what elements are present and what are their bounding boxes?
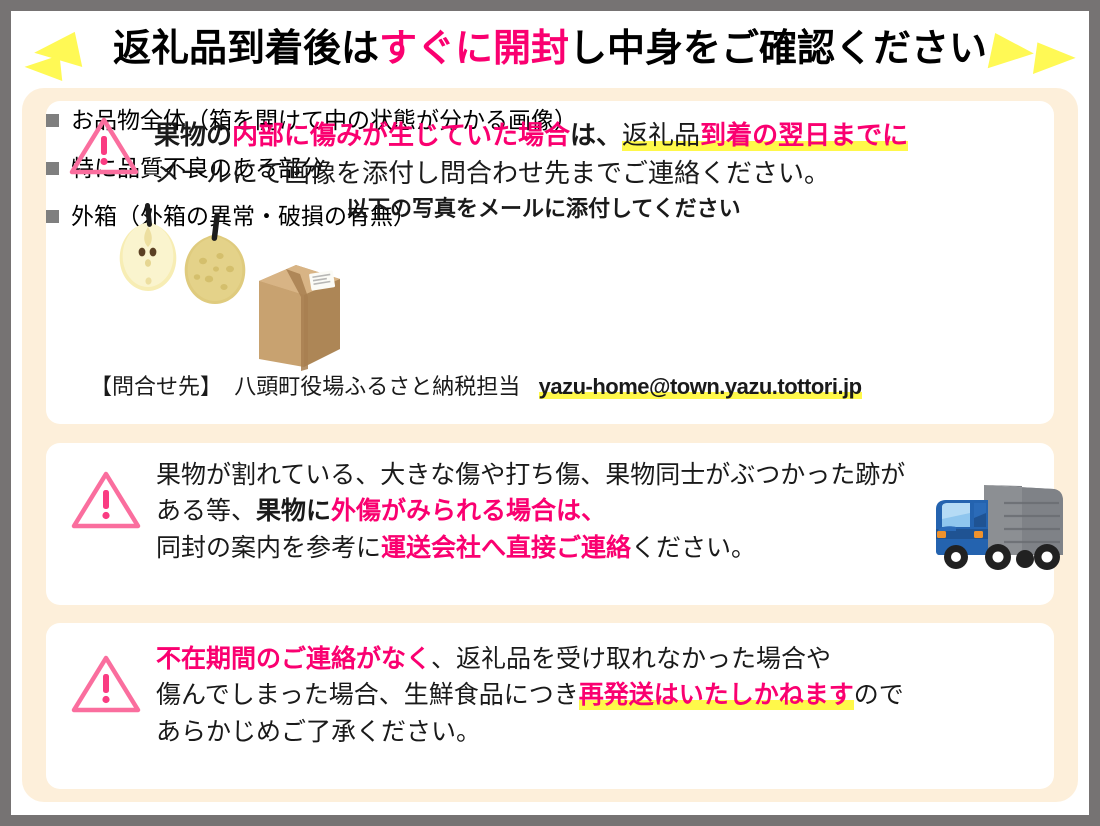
panel1-subheading: 以下の写真をメールに添付してください [346,193,741,225]
poster-header: 返礼品到着後はすぐに開封し中身をご確認ください [11,17,1089,89]
contact-label: 【問合せ先】 [90,374,222,399]
panel1-lead-text: 果物の内部に傷みが生じていた場合は、返礼品到着の翌日までに メールにて画像を添付… [154,117,1054,192]
poster-page: 返礼品到着後はすぐに開封し中身をご確認ください 果物の内部に傷みが生じていた場合… [11,11,1089,815]
warning-triangle-icon [70,469,142,531]
p2-l3-seg3: ください。 [631,534,756,562]
p2-l2-seg1: ある等、 [156,497,256,525]
notice-panel-inspect-on-arrival: 果物の内部に傷みが生じていた場合は、返礼品到着の翌日までに メールにて画像を添付… [46,101,1054,424]
warning-triangle-icon [70,653,142,715]
panel2-line2: ある等、果物に外傷がみられる場合は、 [156,493,946,529]
p3-l2-seg1: 傷んでしまった場合、生鮮食品につき [156,681,579,709]
p2-l2-seg3: 外傷がみられる場合は、 [331,497,606,525]
warning-triangle-icon [68,115,140,177]
p3-l2-seg2: 再発送はいたしかねます [579,681,854,710]
title-segment-highlight: すぐに開封 [379,28,569,70]
p2-l3-seg2: 運送会社へ直接ご連絡 [381,534,631,562]
p1-seg5: 到着の翌日までに [700,120,908,151]
p2-l2-seg2: 果物に [256,497,331,525]
pears-and-cardboard-box-illustration [104,201,344,371]
panel3-line1: 不在期間のご連絡がなく、返礼品を受け取れなかった場合や [156,641,1036,677]
p1-seg2: 内部に傷みが生じていた場合 [232,120,570,150]
p3-l2-seg3: ので [854,681,904,709]
cardboard-box-icon [259,265,340,371]
p3-l1-seg1: 不在期間のご連絡がなく [156,645,431,673]
square-bullet-icon [46,162,59,175]
panel1-lead-line2: メールにて画像を添付し問合わせ先までご連絡ください。 [154,155,1054,193]
p2-l3-seg1: 同封の案内を参考に [156,534,381,562]
p1-seg1: 果物の [154,120,232,150]
panel1-lead-line1: 果物の内部に傷みが生じていた場合は、返礼品到着の翌日までに [154,117,1054,155]
p1-seg3: は、 [570,120,622,150]
panel1-contact-line: 【問合せ先】 八頭町役場ふるさと納税担当 yazu-home@town.yazu… [90,371,862,403]
poster-root: 返礼品到着後はすぐに開封し中身をご確認ください 果物の内部に傷みが生じていた場合… [0,0,1100,826]
notice-panel-external-damage: 果物が割れている、大きな傷や打ち傷、果物同士がぶつかった跡が ある等、果物に外傷… [46,443,1054,605]
panel3-line3: あらかじめご了承ください。 [156,714,1036,750]
contact-office: 八頭町役場ふるさと納税担当 [234,374,520,399]
page-title: 返礼品到着後はすぐに開封し中身をご確認ください [11,17,1089,81]
cream-container: 果物の内部に傷みが生じていた場合は、返礼品到着の翌日までに メールにて画像を添付… [22,88,1078,802]
notice-panel-no-reshipment: 不在期間のご連絡がなく、返礼品を受け取れなかった場合や 傷んでしまった場合、生鮮… [46,623,1054,789]
panel3-line2: 傷んでしまった場合、生鮮食品につき再発送はいたしかねますので [156,677,1036,713]
whole-pear-icon [185,213,246,304]
square-bullet-icon [46,210,59,223]
p3-l1-seg2: 、返礼品を受け取れなかった場合や [431,645,831,673]
delivery-truck-illustration [926,471,1076,581]
panel3-body-text: 不在期間のご連絡がなく、返礼品を受け取れなかった場合や 傷んでしまった場合、生鮮… [156,641,1036,750]
title-segment-1: 返礼品到着後は [113,28,379,70]
p1-seg4: 返礼品 [622,120,700,151]
square-bullet-icon [46,114,59,127]
title-segment-2: し中身をご確認ください [569,28,987,70]
cut-pear-icon [120,203,177,291]
panel2-line3: 同封の案内を参考に運送会社へ直接ご連絡ください。 [156,530,946,566]
contact-email[interactable]: yazu-home@town.yazu.tottori.jp [539,374,862,399]
panel2-line1: 果物が割れている、大きな傷や打ち傷、果物同士がぶつかった跡が [156,457,946,493]
panel2-body-text: 果物が割れている、大きな傷や打ち傷、果物同士がぶつかった跡が ある等、果物に外傷… [156,457,946,566]
